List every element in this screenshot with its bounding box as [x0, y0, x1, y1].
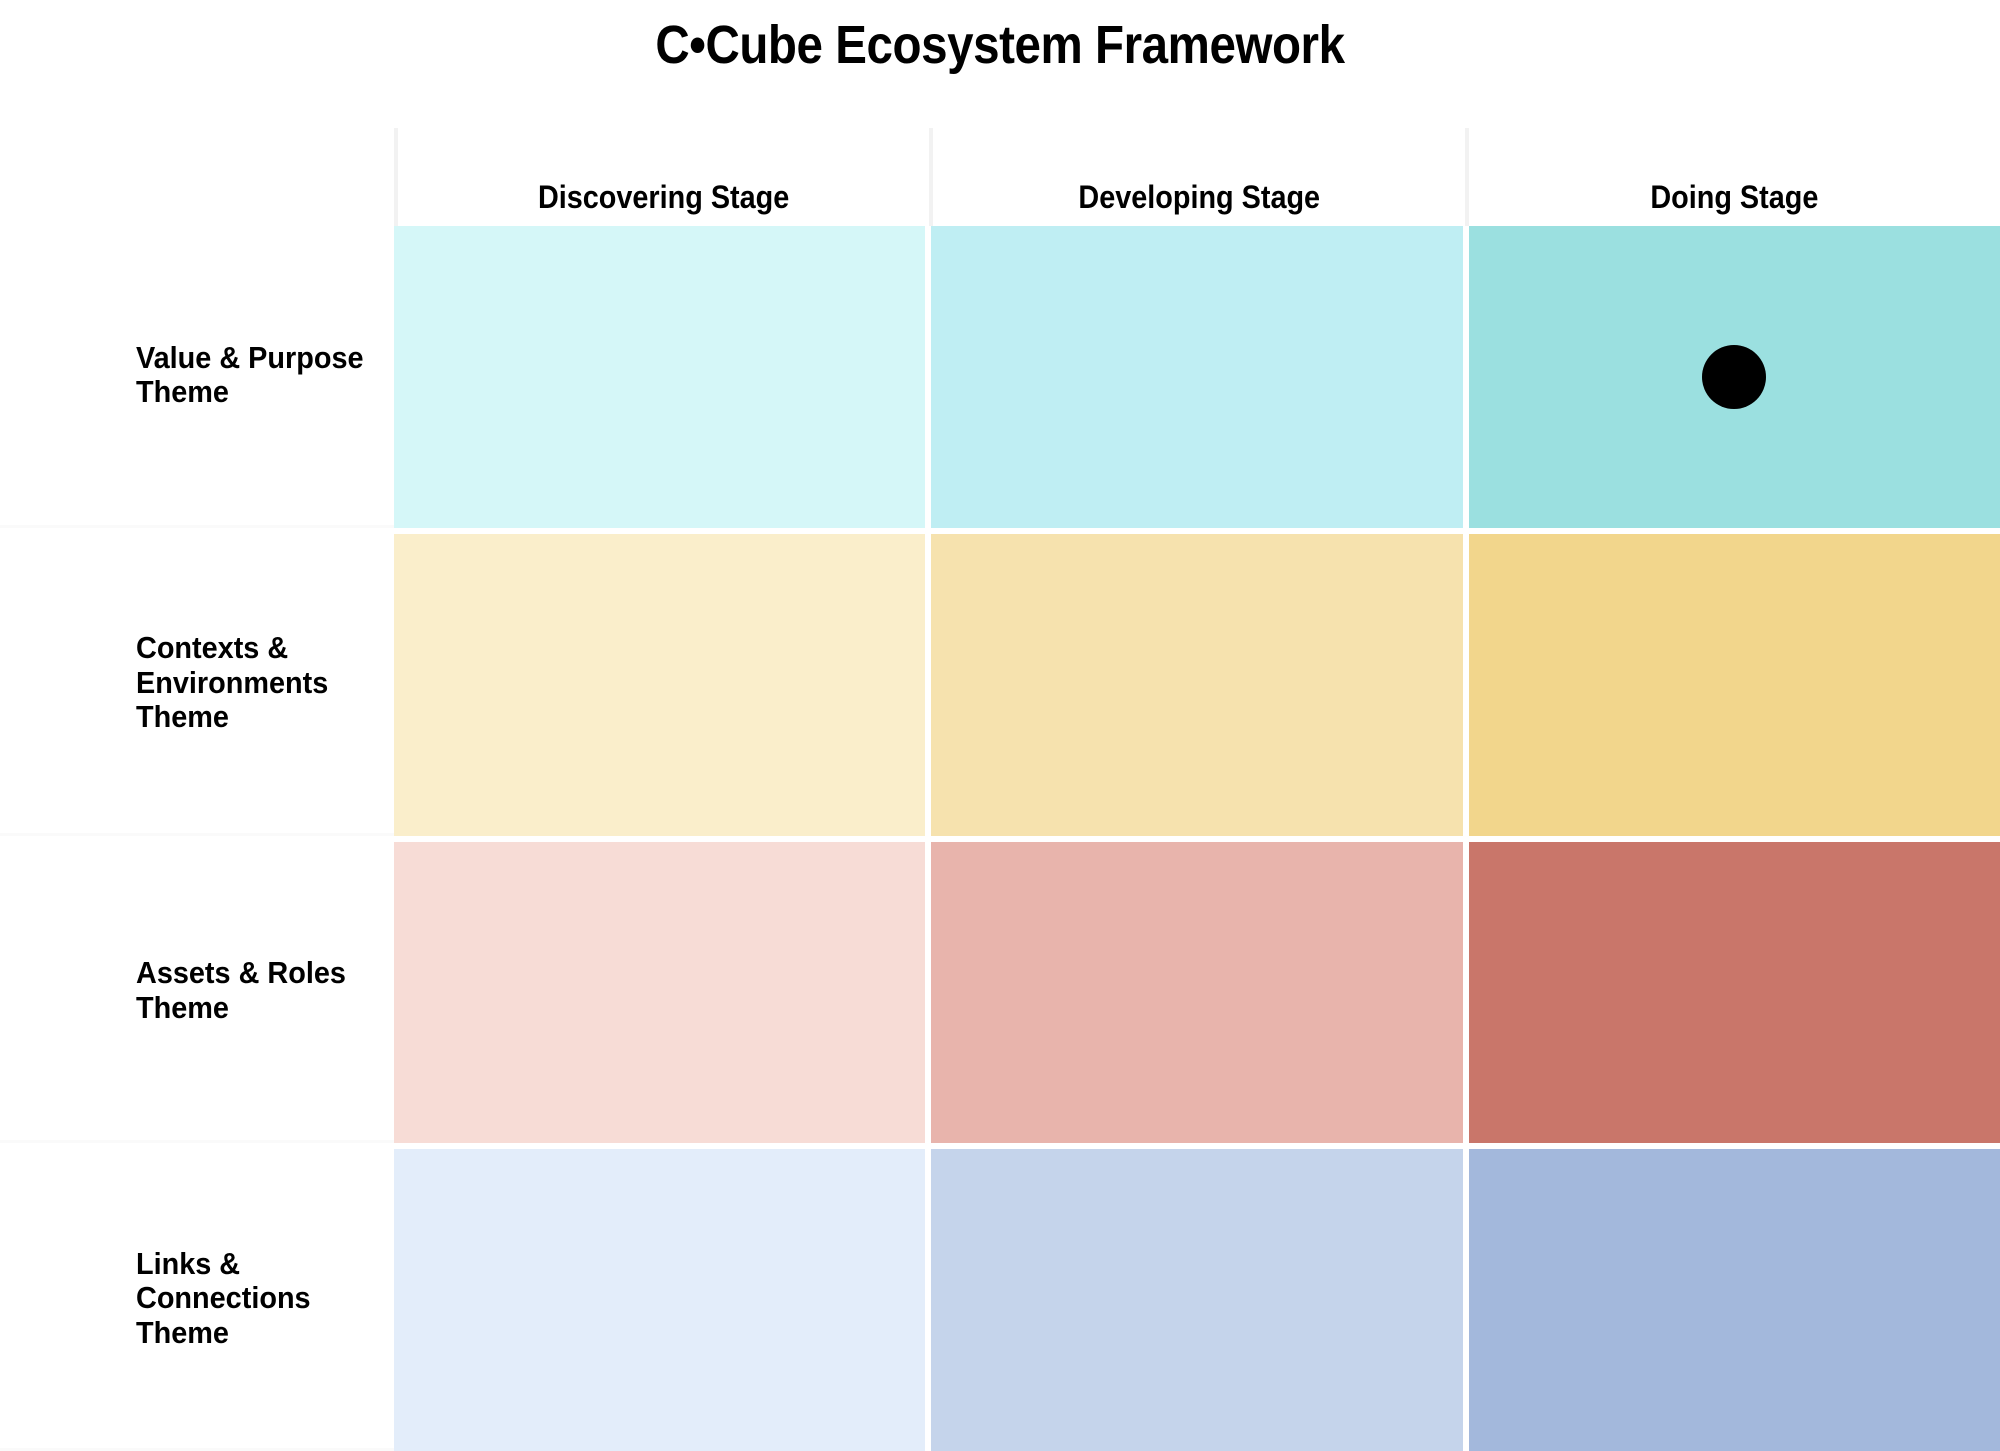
- row-label-links-connections-theme: Links & Connections Theme: [0, 1149, 394, 1451]
- column-header-discovering-stage: Discovering Stage: [394, 128, 929, 226]
- heatmap-cell-grid: [394, 226, 2000, 1451]
- row-label-contexts-environments-theme: Contexts & Environments Theme: [0, 534, 394, 836]
- cell-assets-roles-doing[interactable]: [1469, 842, 2000, 1144]
- cell-contexts-environments-discovering[interactable]: [394, 534, 925, 836]
- cell-value-purpose-developing[interactable]: [931, 226, 1462, 528]
- row-label-text: Contexts & Environments Theme: [136, 631, 328, 735]
- page-title: C•Cube Ecosystem Framework: [120, 14, 1880, 76]
- row-label-text: Assets & Roles Theme: [136, 956, 346, 1025]
- cell-links-connections-developing[interactable]: [931, 1149, 1462, 1451]
- column-header-label: Developing Stage: [1078, 179, 1320, 216]
- column-header-developing-stage: Developing Stage: [929, 128, 1464, 226]
- cell-assets-roles-discovering[interactable]: [394, 842, 925, 1144]
- column-header-row: Discovering Stage Developing Stage Doing…: [394, 128, 2000, 226]
- cell-links-connections-doing[interactable]: [1469, 1149, 2000, 1451]
- current-position-marker-icon: [1702, 345, 1766, 409]
- column-header-label: Doing Stage: [1650, 179, 1818, 216]
- column-header-label: Discovering Stage: [538, 179, 789, 216]
- row-label-column: Value & Purpose Theme Contexts & Environ…: [0, 226, 394, 1451]
- framework-matrix-figure: C•Cube Ecosystem Framework Discovering S…: [0, 0, 2000, 1451]
- matrix-grid: Discovering Stage Developing Stage Doing…: [394, 128, 2000, 1451]
- cell-links-connections-discovering[interactable]: [394, 1149, 925, 1451]
- row-label-assets-roles-theme: Assets & Roles Theme: [0, 842, 394, 1144]
- row-label-text: Value & Purpose Theme: [136, 341, 364, 410]
- row-label-text: Links & Connections Theme: [136, 1247, 311, 1351]
- cell-contexts-environments-developing[interactable]: [931, 534, 1462, 836]
- cell-contexts-environments-doing[interactable]: [1469, 534, 2000, 836]
- cell-value-purpose-doing[interactable]: [1469, 226, 2000, 528]
- cell-assets-roles-developing[interactable]: [931, 842, 1462, 1144]
- column-header-doing-stage: Doing Stage: [1465, 128, 2000, 226]
- row-label-value-purpose-theme: Value & Purpose Theme: [0, 226, 394, 528]
- cell-value-purpose-discovering[interactable]: [394, 226, 925, 528]
